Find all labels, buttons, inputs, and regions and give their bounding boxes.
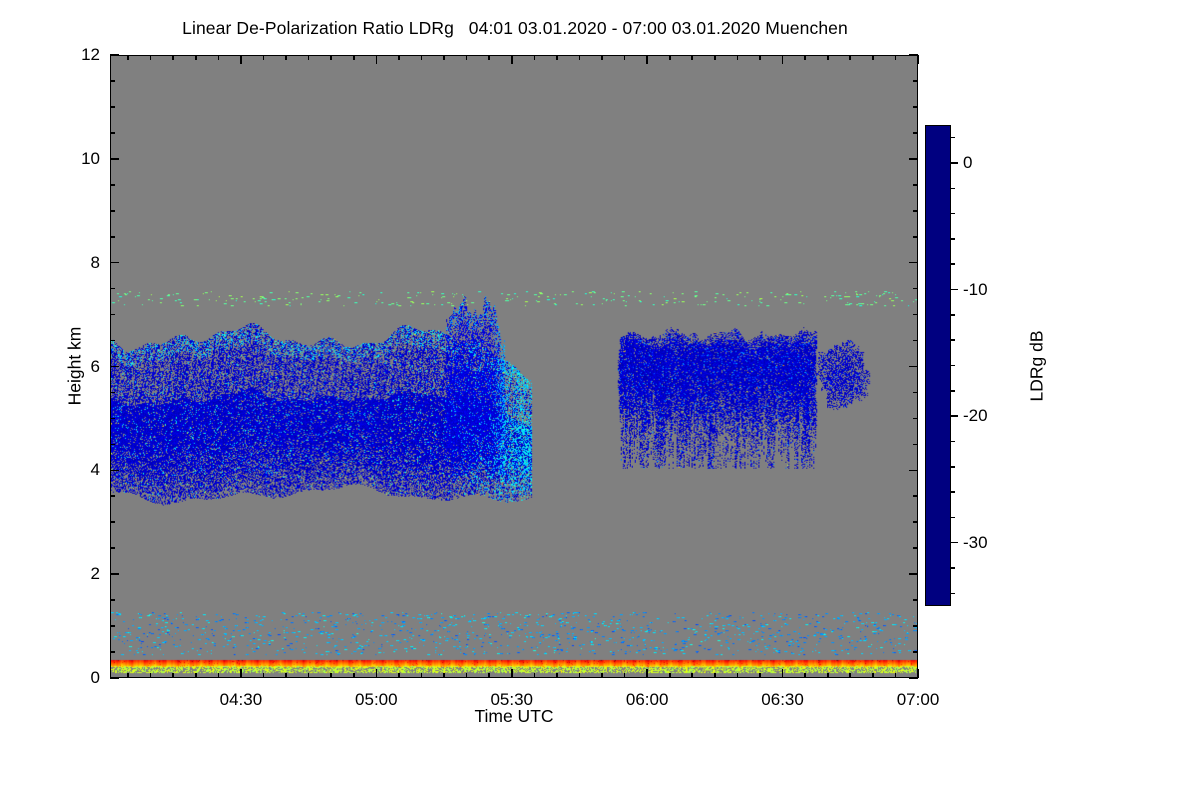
colorbar-tick <box>951 542 958 544</box>
y-minor-tick <box>110 392 115 394</box>
x-major-tick-top <box>511 55 513 64</box>
x-minor-tick-top <box>443 55 445 60</box>
y-minor-tick-right <box>913 392 918 394</box>
x-minor-tick-top <box>534 55 536 60</box>
x-minor-tick-top <box>827 55 829 60</box>
page-title: Linear De-Polarization Ratio LDRg 04:01 … <box>0 18 1030 39</box>
x-major-tick-top <box>646 55 648 64</box>
x-major-tick-top <box>376 55 378 64</box>
y-major-tick <box>110 262 119 264</box>
colorbar-minor-tick <box>951 339 955 341</box>
x-axis-title: Time UTC <box>110 706 918 727</box>
x-minor-tick-top <box>714 55 716 60</box>
colorbar[interactable]: 0-10-20-30 <box>925 125 951 606</box>
y-minor-tick <box>110 80 115 82</box>
colorbar-minor-tick <box>951 137 955 139</box>
y-minor-tick <box>110 132 115 134</box>
figure-root: Linear De-Polarization Ratio LDRg 04:01 … <box>0 0 1200 800</box>
x-minor-tick <box>443 673 445 678</box>
y-major-tick <box>110 470 119 472</box>
x-minor-tick <box>172 673 174 678</box>
x-minor-tick-top <box>556 55 558 60</box>
y-minor-tick <box>110 547 115 549</box>
y-minor-tick <box>110 210 115 212</box>
y-major-tick-right <box>909 54 918 56</box>
x-minor-tick-top <box>579 55 581 60</box>
y-minor-tick-right <box>913 80 918 82</box>
y-major-tick <box>110 54 119 56</box>
x-minor-tick <box>579 673 581 678</box>
y-minor-tick-right <box>913 599 918 601</box>
x-minor-tick <box>466 673 468 678</box>
colorbar-minor-tick <box>951 238 955 240</box>
colorbar-tick <box>951 415 958 417</box>
x-minor-tick-top <box>172 55 174 60</box>
x-minor-tick-top <box>308 55 310 60</box>
y-major-tick-right <box>909 366 918 368</box>
y-major-tick <box>110 677 119 679</box>
x-minor-tick <box>330 673 332 678</box>
y-major-tick-right <box>909 573 918 575</box>
colorbar-title: LDRg dB <box>1027 281 1048 451</box>
x-minor-tick-top <box>218 55 220 60</box>
x-minor-tick <box>556 673 558 678</box>
x-minor-tick <box>714 673 716 678</box>
y-major-tick-right <box>909 470 918 472</box>
colorbar-minor-tick <box>951 567 955 569</box>
y-minor-tick-right <box>913 184 918 186</box>
colorbar-minor-tick <box>951 517 955 519</box>
x-minor-tick-top <box>421 55 423 60</box>
x-minor-tick <box>872 673 874 678</box>
x-minor-tick-top <box>759 55 761 60</box>
x-minor-tick-top <box>285 55 287 60</box>
x-minor-tick <box>601 673 603 678</box>
y-tick-label: 12 <box>58 45 100 65</box>
colorbar-minor-tick <box>951 213 955 215</box>
x-minor-tick <box>127 673 129 678</box>
y-minor-tick <box>110 236 115 238</box>
x-minor-tick <box>285 673 287 678</box>
y-minor-tick <box>110 444 115 446</box>
y-minor-tick <box>110 418 115 420</box>
x-minor-tick-top <box>624 55 626 60</box>
y-minor-tick-right <box>913 495 918 497</box>
colorbar-minor-tick <box>951 188 955 190</box>
colorbar-minor-tick <box>951 365 955 367</box>
x-minor-tick <box>150 673 152 678</box>
x-minor-tick-top <box>488 55 490 60</box>
x-minor-tick-top <box>669 55 671 60</box>
x-minor-tick <box>669 673 671 678</box>
x-minor-tick-top <box>895 55 897 60</box>
y-minor-tick-right <box>913 288 918 290</box>
colorbar-tick-label: 0 <box>963 153 972 173</box>
x-minor-tick <box>488 673 490 678</box>
x-minor-tick <box>737 673 739 678</box>
x-minor-tick <box>398 673 400 678</box>
y-minor-tick <box>110 340 115 342</box>
x-minor-tick <box>353 673 355 678</box>
x-major-tick-top <box>782 55 784 64</box>
y-minor-tick <box>110 625 115 627</box>
x-minor-tick-top <box>353 55 355 60</box>
x-minor-tick-top <box>150 55 152 60</box>
y-minor-tick-right <box>913 418 918 420</box>
x-minor-tick-top <box>195 55 197 60</box>
x-major-tick-top <box>917 55 919 64</box>
y-minor-tick <box>110 288 115 290</box>
y-minor-tick <box>110 314 115 316</box>
colorbar-minor-tick <box>951 390 955 392</box>
plot-area[interactable] <box>110 55 918 678</box>
y-minor-tick <box>110 599 115 601</box>
y-minor-tick <box>110 184 115 186</box>
x-minor-tick-top <box>466 55 468 60</box>
y-tick-label: 10 <box>58 149 100 169</box>
colorbar-gradient <box>925 125 951 606</box>
y-minor-tick-right <box>913 106 918 108</box>
x-major-tick <box>511 669 513 678</box>
y-minor-tick-right <box>913 314 918 316</box>
colorbar-minor-tick <box>951 491 955 493</box>
x-major-tick <box>782 669 784 678</box>
y-tick-label: 4 <box>58 460 100 480</box>
y-minor-tick <box>110 521 115 523</box>
y-major-tick-right <box>909 262 918 264</box>
y-major-tick-right <box>909 158 918 160</box>
colorbar-tick <box>951 162 958 164</box>
x-minor-tick-top <box>804 55 806 60</box>
x-minor-tick <box>195 673 197 678</box>
x-minor-tick <box>263 673 265 678</box>
y-minor-tick-right <box>913 340 918 342</box>
y-minor-tick <box>110 651 115 653</box>
x-minor-tick <box>691 673 693 678</box>
y-axis-title: Height km <box>65 286 86 446</box>
y-minor-tick-right <box>913 132 918 134</box>
colorbar-minor-tick <box>951 593 955 595</box>
x-major-tick <box>646 669 648 678</box>
y-minor-tick-right <box>913 625 918 627</box>
y-minor-tick-right <box>913 444 918 446</box>
x-minor-tick <box>218 673 220 678</box>
y-minor-tick <box>110 495 115 497</box>
x-minor-tick-top <box>737 55 739 60</box>
x-minor-tick <box>804 673 806 678</box>
x-minor-tick-top <box>263 55 265 60</box>
x-minor-tick-top <box>330 55 332 60</box>
y-minor-tick-right <box>913 210 918 212</box>
colorbar-minor-tick <box>951 263 955 265</box>
x-minor-tick <box>534 673 536 678</box>
y-major-tick <box>110 366 119 368</box>
y-major-tick <box>110 573 119 575</box>
colorbar-minor-tick <box>951 441 955 443</box>
x-minor-tick <box>759 673 761 678</box>
x-minor-tick-top <box>872 55 874 60</box>
x-minor-tick-top <box>849 55 851 60</box>
y-minor-tick-right <box>913 236 918 238</box>
x-minor-tick-top <box>398 55 400 60</box>
x-minor-tick <box>624 673 626 678</box>
heatmap-canvas <box>111 56 917 677</box>
colorbar-minor-tick <box>951 314 955 316</box>
y-minor-tick-right <box>913 547 918 549</box>
colorbar-tick <box>951 289 958 291</box>
x-minor-tick <box>849 673 851 678</box>
x-minor-tick <box>827 673 829 678</box>
y-tick-label: 2 <box>58 564 100 584</box>
y-minor-tick-right <box>913 651 918 653</box>
colorbar-tick-label: -30 <box>963 533 988 553</box>
x-minor-tick-top <box>127 55 129 60</box>
x-major-tick <box>376 669 378 678</box>
x-minor-tick-top <box>691 55 693 60</box>
x-minor-tick-top <box>601 55 603 60</box>
x-major-tick-top <box>240 55 242 64</box>
colorbar-minor-tick <box>951 466 955 468</box>
x-minor-tick <box>895 673 897 678</box>
y-major-tick-right <box>909 677 918 679</box>
colorbar-tick-label: -20 <box>963 406 988 426</box>
y-tick-label: 0 <box>58 668 100 688</box>
y-minor-tick <box>110 106 115 108</box>
x-major-tick <box>240 669 242 678</box>
x-minor-tick <box>308 673 310 678</box>
x-minor-tick <box>421 673 423 678</box>
y-minor-tick-right <box>913 521 918 523</box>
colorbar-tick-label: -10 <box>963 280 988 300</box>
y-major-tick <box>110 158 119 160</box>
y-tick-label: 8 <box>58 253 100 273</box>
